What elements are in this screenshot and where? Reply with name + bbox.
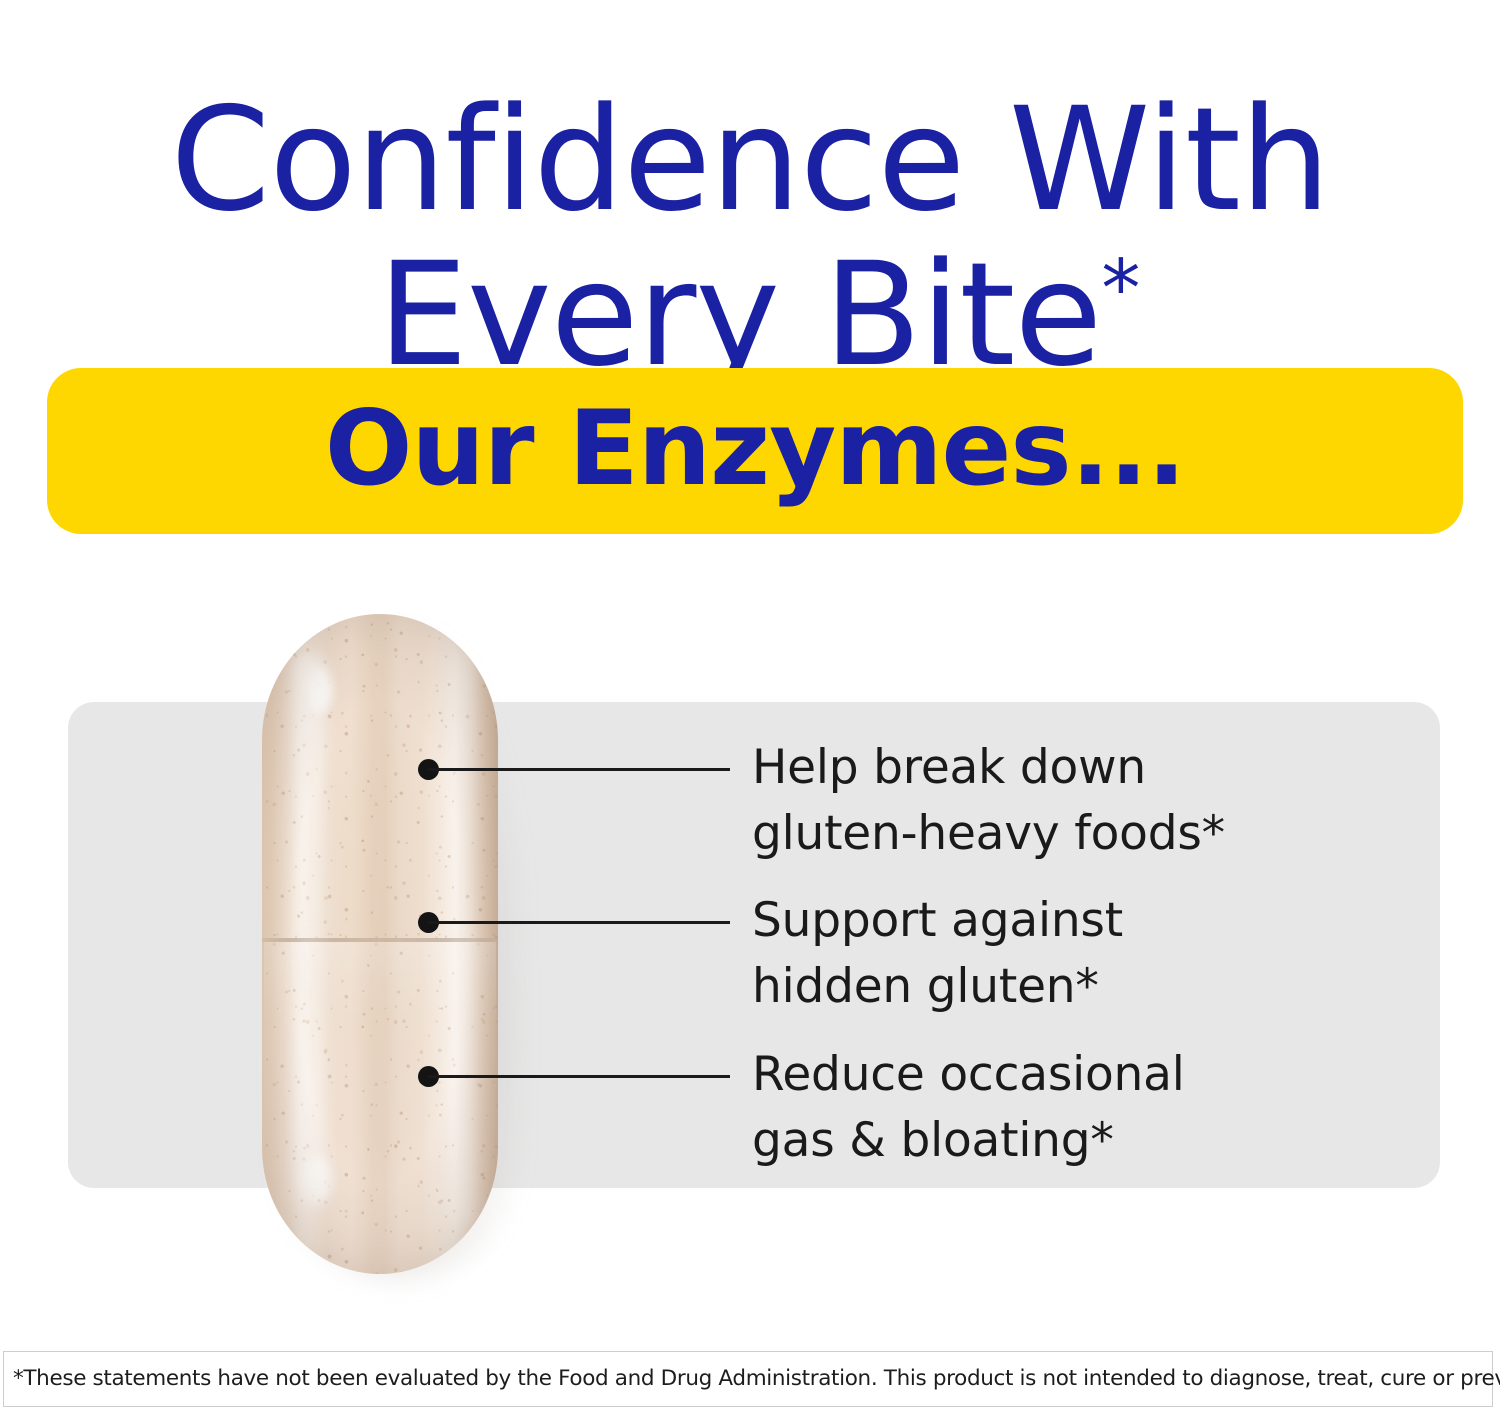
callout-line-3 xyxy=(428,1075,730,1078)
disclaimer-text: *These statements have not been evaluate… xyxy=(4,1366,1500,1392)
capsule-body xyxy=(262,614,498,1274)
benefit-item-1: Help break down gluten-heavy foods* xyxy=(752,735,1225,867)
benefit-item-2: Support against hidden gluten* xyxy=(752,888,1123,1020)
capsule-highlight-left xyxy=(292,654,326,1214)
headline-line-1: Confidence With xyxy=(170,76,1329,243)
benefit-item-3: Reduce occasional gas & bloating* xyxy=(752,1042,1185,1174)
benefit-3-line-2: gas & bloating* xyxy=(752,1108,1185,1174)
page-title: Confidence With Every Bite* xyxy=(0,82,1500,392)
capsule-highlight-top xyxy=(306,668,332,712)
enzymes-banner: Our Enzymes... xyxy=(47,368,1463,534)
capsule-highlight-bottom xyxy=(302,1156,332,1204)
benefit-1-line-2: gluten-heavy foods* xyxy=(752,801,1225,867)
callout-line-1 xyxy=(428,768,730,771)
benefit-2-line-2: hidden gluten* xyxy=(752,954,1123,1020)
product-infographic: Confidence With Every Bite* Our Enzymes.… xyxy=(0,0,1500,1416)
benefit-1-line-1: Help break down xyxy=(752,735,1225,801)
benefit-3-line-1: Reduce occasional xyxy=(752,1042,1185,1108)
capsule-highlight-right xyxy=(454,648,476,1228)
callout-line-2 xyxy=(428,921,730,924)
benefit-2-line-1: Support against xyxy=(752,888,1123,954)
headline-asterisk: * xyxy=(1101,244,1140,334)
capsule-image xyxy=(262,614,514,1282)
disclaimer-box: *These statements have not been evaluate… xyxy=(3,1351,1493,1407)
enzymes-banner-label: Our Enzymes... xyxy=(325,398,1185,501)
